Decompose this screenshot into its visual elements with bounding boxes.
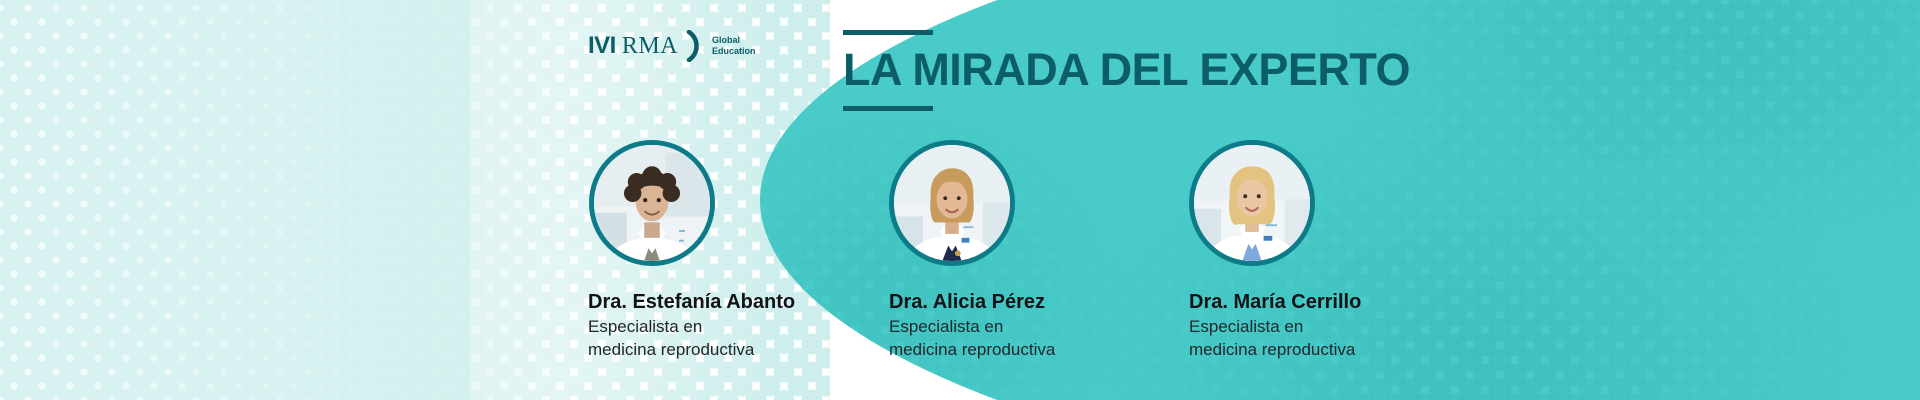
- doctor-role-line2: medicina reproductiva: [588, 339, 795, 360]
- doctor-card[interactable]: Dra. Estefanía Abanto Especialista en me…: [589, 140, 795, 360]
- avatar: [889, 140, 1015, 266]
- doctor-name: Dra. Alicia Pérez: [889, 290, 1055, 314]
- doctor-name: Dra. Estefanía Abanto: [588, 290, 795, 314]
- doctor-role-line1: Especialista en: [889, 316, 1055, 337]
- avatar: [1189, 140, 1315, 266]
- doctor-role-line2: medicina reproductiva: [889, 339, 1055, 360]
- doctor-name: Dra. María Cerrillo: [1189, 290, 1361, 314]
- expert-banner: IVIRMA Global Education LA MIRADA DEL EX…: [0, 0, 1920, 400]
- doctor-role-line2: medicina reproductiva: [1189, 339, 1361, 360]
- doctor-card[interactable]: Dra. Alicia Pérez Especialista en medici…: [889, 140, 1055, 360]
- avatar: [589, 140, 715, 266]
- doctor-role-line1: Especialista en: [588, 316, 795, 337]
- doctor-card[interactable]: Dra. María Cerrillo Especialista en medi…: [1189, 140, 1361, 360]
- doctors-row: Dra. Estefanía Abanto Especialista en me…: [0, 0, 1920, 400]
- doctor-role-line1: Especialista en: [1189, 316, 1361, 337]
